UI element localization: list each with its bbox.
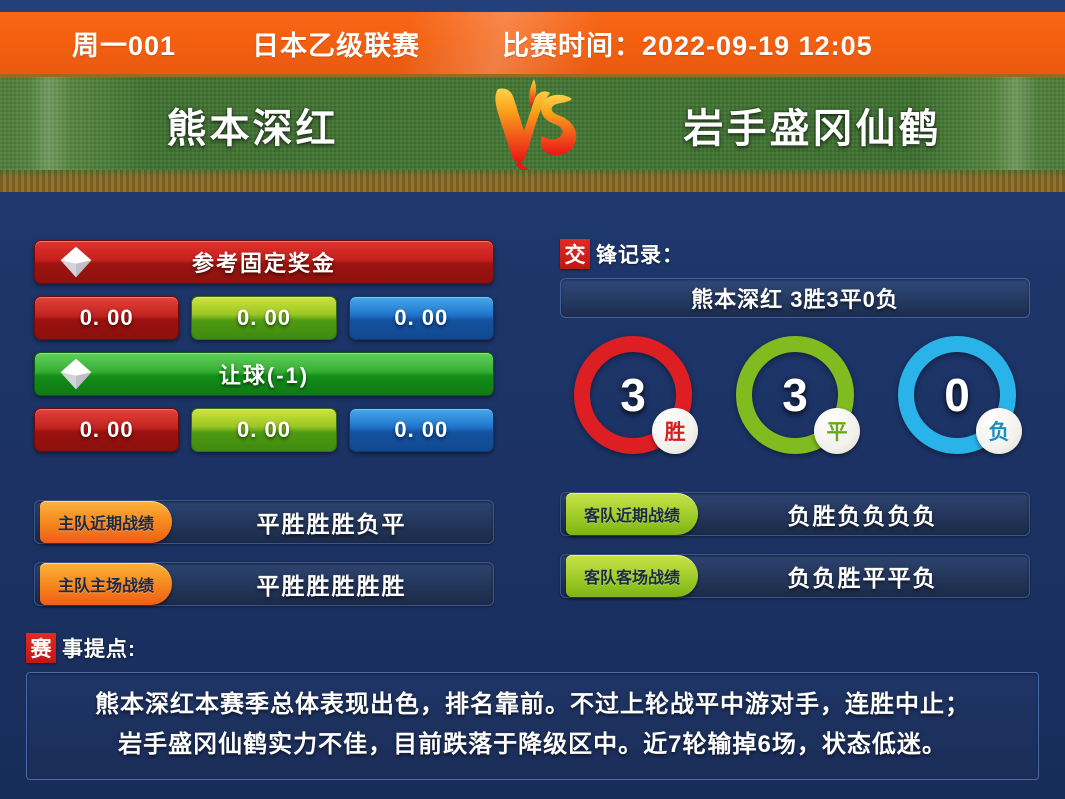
home-home-form-tab: 主队主场战绩 <box>40 563 172 605</box>
vs-logo <box>463 74 603 177</box>
home-home-form-row: 主队主场战绩 平胜胜胜胜胜 <box>34 562 494 606</box>
away-away-form-tab: 客队客场战绩 <box>566 555 698 597</box>
home-home-form-value: 平胜胜胜胜胜 <box>179 562 494 606</box>
h2h-ring-win: 3 胜 <box>574 336 692 454</box>
tips-caption-text: 事提点: <box>62 633 136 663</box>
away-recent-form-tab: 客队近期战绩 <box>566 493 698 535</box>
home-recent-form-tab: 主队近期战绩 <box>40 501 172 543</box>
pitch-dirt-edge <box>0 170 1065 192</box>
tips-box: 熊本深红本赛季总体表现出色，排名靠前。不过上轮战平中游对手，连胜中止； 岩手盛冈… <box>26 672 1039 780</box>
h2h-caption-text: 锋记录： <box>596 239 684 269</box>
tips-caption: 赛 事提点: <box>26 632 1039 664</box>
away-away-form-row: 客队客场战绩 负负胜平平负 <box>560 554 1030 598</box>
fixed-odd-win[interactable]: 0. 00 <box>34 296 179 340</box>
h2h-panel: 交 锋记录： 熊本深红 3胜3平0负 3 胜 3 平 0 负 客队近期战绩 负胜… <box>560 238 1030 598</box>
match-preview-page: 周一001 日本乙级联赛 比赛时间：2022-09-19 12:05 熊本深红 <box>0 0 1065 799</box>
handicap-title: 让球(-1) <box>219 358 309 390</box>
team-banner: 熊本深红 岩手盛冈仙 <box>0 74 1065 192</box>
h2h-loss-badge: 负 <box>976 408 1022 454</box>
odds-panel: 参考固定奖金 0. 00 0. 00 0. 00 让球(-1) 0. 00 0.… <box>34 240 494 606</box>
home-recent-form-value: 平胜胜胜负平 <box>179 500 494 544</box>
tips-badge-icon: 赛 <box>26 633 56 663</box>
away-away-form-value: 负负胜平平负 <box>705 554 1030 598</box>
tips-line-2: 岩手盛冈仙鹤实力不佳，目前跌落于降级区中。近7轮输掉6场，状态低迷。 <box>41 725 1024 765</box>
fixed-odds-title-bar: 参考固定奖金 <box>34 240 494 284</box>
round-label: 周一001 <box>72 24 252 63</box>
h2h-draw-badge: 平 <box>814 408 860 454</box>
diamond-icon <box>59 245 93 279</box>
diamond-icon <box>59 357 93 391</box>
away-recent-form-row: 客队近期战绩 负胜负负负负 <box>560 492 1030 536</box>
header-text-row: 周一001 日本乙级联赛 比赛时间：2022-09-19 12:05 <box>72 24 873 63</box>
handicap-odd-win[interactable]: 0. 00 <box>34 408 179 452</box>
handicap-title-bar: 让球(-1) <box>34 352 494 396</box>
match-header-bar: 周一001 日本乙级联赛 比赛时间：2022-09-19 12:05 <box>0 12 1065 74</box>
handicap-odd-loss[interactable]: 0. 00 <box>349 408 494 452</box>
home-team-name: 熊本深红 <box>43 96 463 154</box>
h2h-badge-icon: 交 <box>560 239 590 269</box>
match-tips-section: 赛 事提点: 熊本深红本赛季总体表现出色，排名靠前。不过上轮战平中游对手，连胜中… <box>26 632 1039 780</box>
home-recent-form-row: 主队近期战绩 平胜胜胜负平 <box>34 500 494 544</box>
h2h-summary: 熊本深红 3胜3平0负 <box>560 278 1030 318</box>
league-label: 日本乙级联赛 <box>252 24 502 63</box>
h2h-rings: 3 胜 3 平 0 负 <box>574 336 1016 454</box>
handicap-odd-draw[interactable]: 0. 00 <box>191 408 336 452</box>
away-team-name: 岩手盛冈仙鹤 <box>603 96 1023 154</box>
team-names-row: 熊本深红 岩手盛冈仙 <box>0 77 1065 173</box>
away-recent-form-value: 负胜负负负负 <box>705 492 1030 536</box>
vs-flame-icon <box>478 74 588 177</box>
h2h-win-badge: 胜 <box>652 408 698 454</box>
h2h-caption: 交 锋记录： <box>560 238 1030 270</box>
kickoff-time-label: 比赛时间：2022-09-19 12:05 <box>502 24 873 63</box>
fixed-odds-row: 0. 00 0. 00 0. 00 <box>34 296 494 340</box>
h2h-ring-loss: 0 负 <box>898 336 1016 454</box>
fixed-odd-draw[interactable]: 0. 00 <box>191 296 336 340</box>
fixed-odd-loss[interactable]: 0. 00 <box>349 296 494 340</box>
handicap-odds-row: 0. 00 0. 00 0. 00 <box>34 408 494 452</box>
h2h-ring-draw: 3 平 <box>736 336 854 454</box>
tips-line-1: 熊本深红本赛季总体表现出色，排名靠前。不过上轮战平中游对手，连胜中止； <box>41 685 1024 725</box>
fixed-odds-title: 参考固定奖金 <box>192 246 336 278</box>
